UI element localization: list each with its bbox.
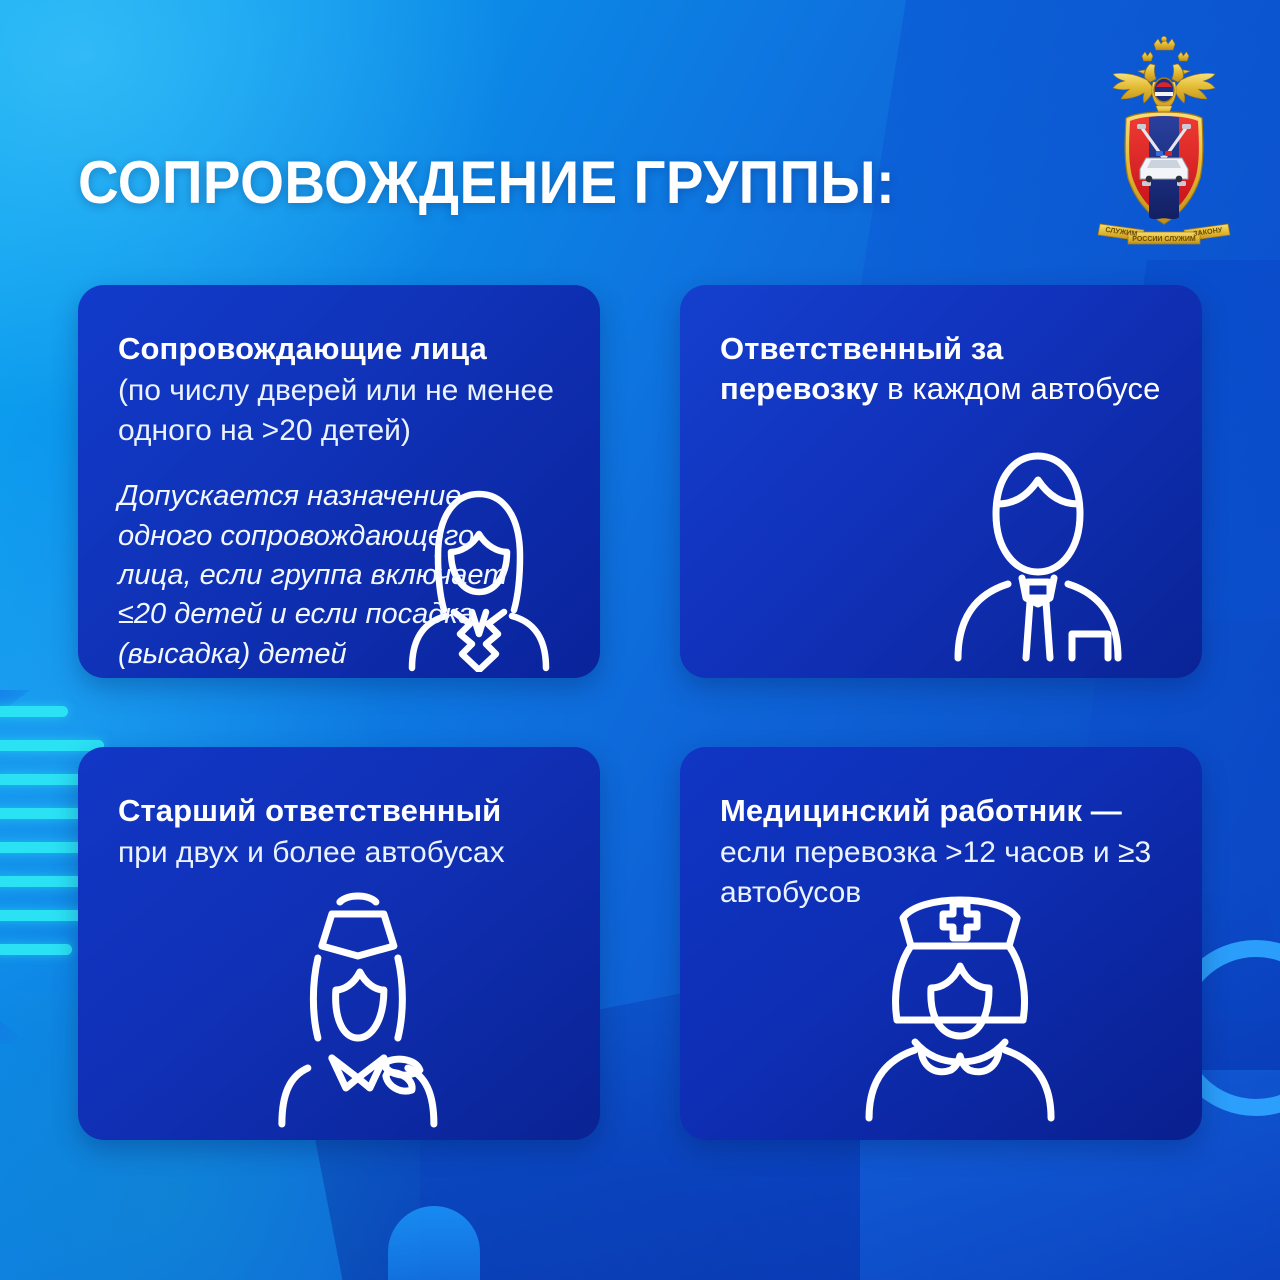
- poster-header: СОПРОВОЖДЕНИЕ ГРУППЫ:: [0, 0, 1280, 268]
- left-corner-tick-bottom: [0, 1018, 30, 1044]
- card2-headline: Ответственный за перевозку в каждом авто…: [720, 329, 1162, 410]
- card-senior-responsible: Старший ответственный при двух и более а…: [78, 747, 600, 1140]
- card3-headline-bold: Старший ответственный: [118, 793, 501, 828]
- card4-subtext: если перевозка >12 часов и ≥3 автобусов: [720, 833, 1162, 913]
- emblem-ribbon-center: РОССИИ СЛУЖИМ: [1132, 236, 1196, 243]
- infographic-poster: СОПРОВОЖДЕНИЕ ГРУППЫ:: [0, 0, 1280, 1280]
- page-title: СОПРОВОЖДЕНИЕ ГРУППЫ:: [78, 148, 895, 217]
- mvd-emblem-icon: СЛУЖИМ РОССИИ СЛУЖИМ ЗАКОНУ: [1090, 34, 1238, 252]
- card1-subtext: (по числу дверей или не менее одного на …: [118, 371, 560, 451]
- stewardess-icon: [240, 872, 476, 1130]
- left-corner-tick-top: [0, 690, 30, 716]
- card4-headline: Медицинский работник —: [720, 791, 1162, 831]
- card1-headline-bold: Сопровождающие лица: [118, 331, 487, 366]
- card-accompanying-persons: Сопровождающие лица (по числу дверей или…: [78, 285, 600, 678]
- cards-grid: Сопровождающие лица (по числу дверей или…: [78, 285, 1202, 1140]
- card-medical-worker: Медицинский работник — если перевозка >1…: [680, 747, 1202, 1140]
- man-with-tie-icon: [922, 426, 1154, 664]
- card1-headline: Сопровождающие лица: [118, 329, 560, 369]
- card4-headline-bold: Медицинский работник —: [720, 793, 1122, 828]
- card1-note: Допускается назначение одного сопровожда…: [118, 477, 518, 678]
- card3-subtext: при двух и более автобусах: [118, 833, 560, 873]
- card-responsible-for-transport: Ответственный за перевозку в каждом авто…: [680, 285, 1202, 678]
- card2-headline-regular: в каждом автобусе: [878, 371, 1160, 406]
- bottom-pill-shape: [388, 1206, 480, 1280]
- card3-headline: Старший ответственный: [118, 791, 560, 831]
